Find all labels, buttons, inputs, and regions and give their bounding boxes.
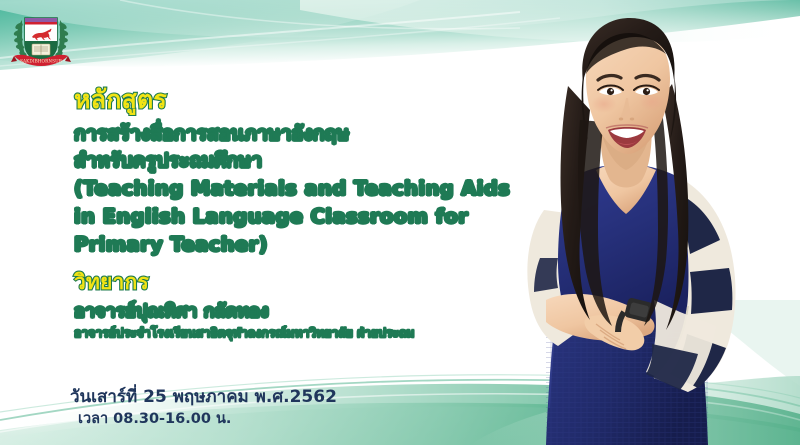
course-title-en-line-1: (Teaching Materials and Teaching Aids [74,177,510,200]
crest-banner-text: SAKDIBHORNSUB [20,59,62,64]
course-label: หลักสูตร [74,80,167,120]
speaker-label: วิทยากร [74,266,149,299]
poster-canvas: SAKDIBHORNSUB [0,0,800,445]
school-crest-logo: SAKDIBHORNSUB [8,6,74,72]
course-title-th-line-2: สำหรับครูประถมศึกษา [74,145,262,176]
speaker-affiliation: อาจารย์ประจำโรงเรียนสาธิตจุฬาลงกรณ์มหาวิ… [74,324,414,343]
event-date: วันเสาร์ที่ 25 พฤษภาคม พ.ศ.2562 [70,383,337,410]
course-title-en-line-2: in English Language Classroom for [74,205,468,228]
speaker-name: อาจารย์ปุณทิศา กลัดทอง [74,296,269,325]
course-title-en-line-3: Primary Teacher) [74,233,268,256]
school-crest-icon: SAKDIBHORNSUB [8,6,74,72]
event-time: เวลา 08.30-16.00 น. [78,407,231,430]
